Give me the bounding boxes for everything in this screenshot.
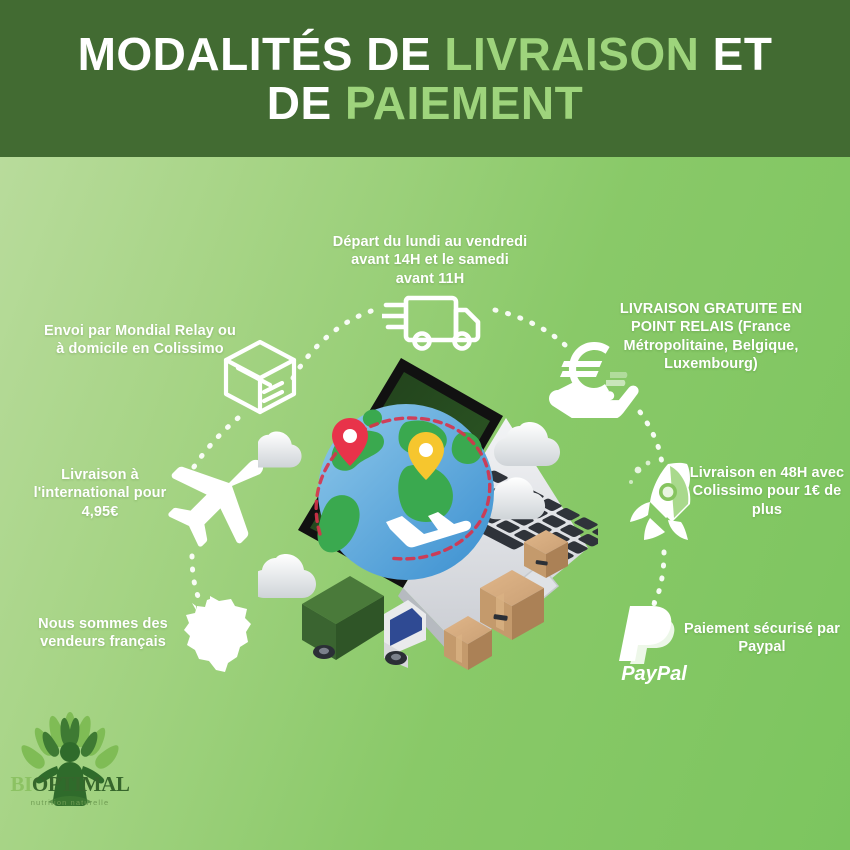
feature-label-vendeurs-francais: Nous sommes des vendeurs français xyxy=(12,615,194,652)
feature-label-point-relais: LIVRAISON GRATUITE EN POINT RELAIS (Fran… xyxy=(604,300,818,373)
isometric-laptop-globe-illustration xyxy=(258,352,598,682)
bioptimal-wordmark: BIOPTIMAL nutrition naturelle xyxy=(8,772,132,807)
bioptimal-name-light: BI xyxy=(11,772,32,796)
feature-label-international: Livraison à l'international pour 4,95€ xyxy=(20,466,180,521)
paypal-wordmark: PayPal xyxy=(621,663,687,684)
bioptimal-name: BIOPTIMAL xyxy=(8,772,132,797)
bioptimal-name-dark: OPTIMAL xyxy=(32,772,130,796)
feature-label-mondial-relay: Envoi par Mondial Relay ou à domicile en… xyxy=(42,322,238,359)
feature-label-livraison-48h: Livraison en 48H avec Colissimo pour 1€ … xyxy=(688,464,846,519)
infographic-poster: MODALITÉS DE LIVRAISON ET DE PAIEMENT xyxy=(0,0,850,850)
bioptimal-tagline: nutrition naturelle xyxy=(8,798,132,807)
feature-label-paiement-paypal: Paiement sécurisé par Paypal xyxy=(678,620,846,657)
feature-label-depart: Départ du lundi au vendredi avant 14H et… xyxy=(330,233,530,288)
delivery-truck-icon xyxy=(382,288,488,358)
